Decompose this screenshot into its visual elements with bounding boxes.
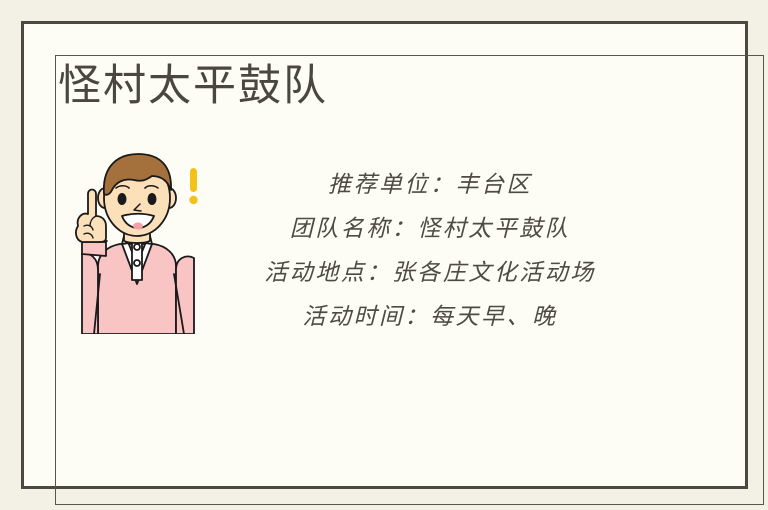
pointing-boy-illustration (62, 146, 208, 334)
info-line-recommending-unit: 推荐单位：丰台区 (228, 163, 632, 207)
info-block: 推荐单位：丰台区 团队名称：怪村太平鼓队 活动地点：张各庄文化活动场 活动时间：… (228, 163, 632, 339)
page-title: 怪村太平鼓队 (58, 58, 328, 114)
exclamation-mark-icon (189, 168, 197, 204)
info-line-team-name: 团队名称：怪村太平鼓队 (228, 207, 632, 251)
info-line-activity-location: 活动地点：张各庄文化活动场 (228, 251, 632, 295)
poster-canvas: 怪村太平鼓队 (0, 0, 768, 510)
info-line-activity-time: 活动时间：每天早、晚 (228, 295, 632, 339)
